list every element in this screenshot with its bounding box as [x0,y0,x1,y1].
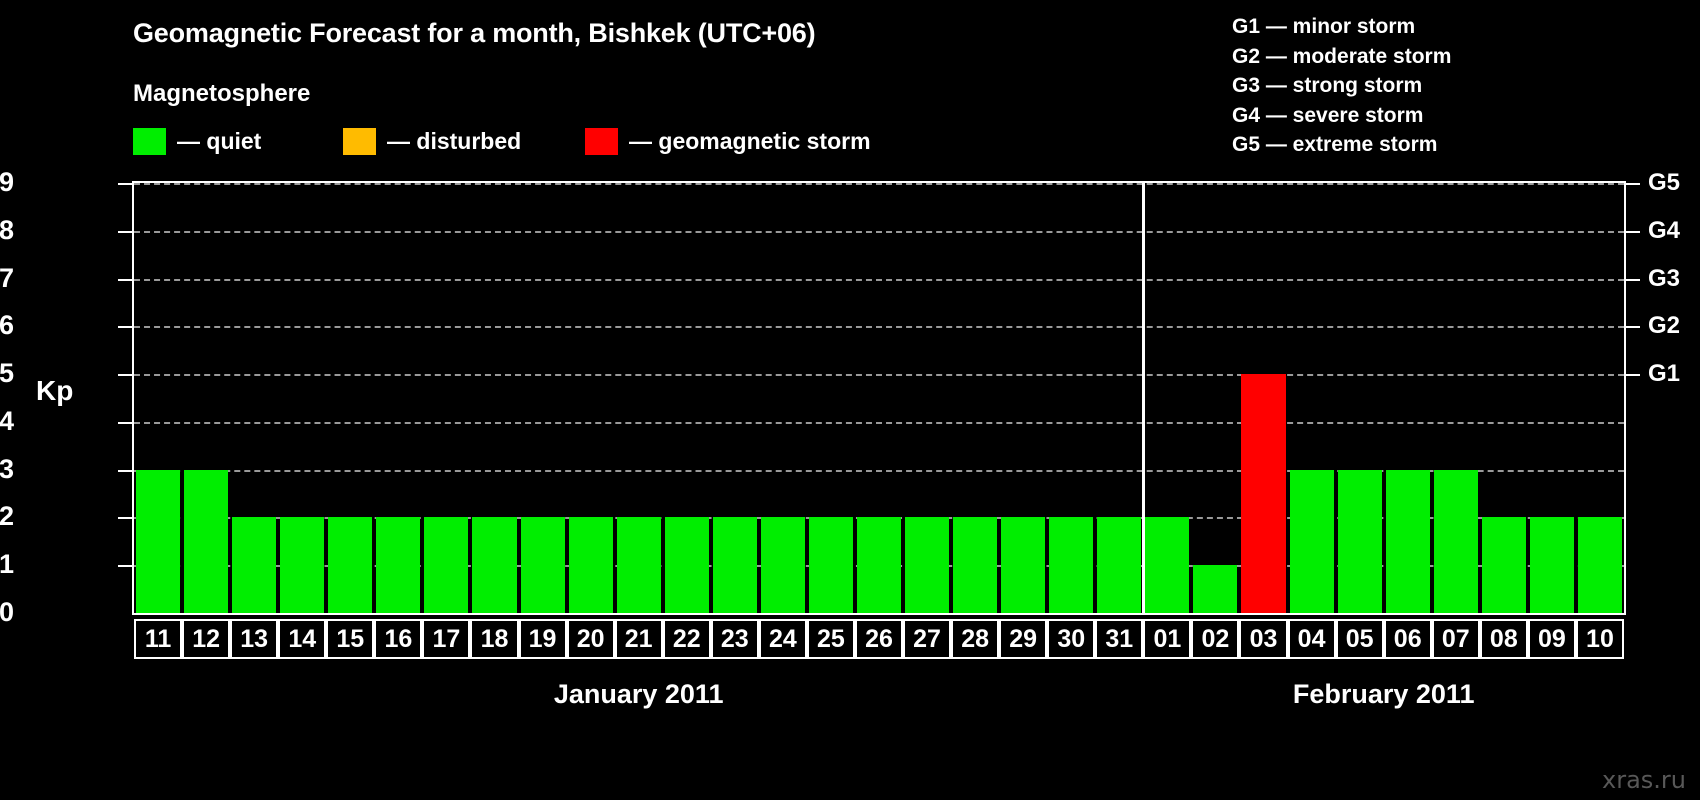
legend-entry-2: — geomagnetic storm [585,126,871,156]
bar-day-06[interactable] [1386,470,1430,613]
bar-day-12[interactable] [184,470,228,613]
legend-swatch-icon [133,128,166,155]
plot-inner [134,183,1624,613]
day-label-11[interactable]: 11 [134,619,182,659]
day-label-01[interactable]: 01 [1143,619,1191,659]
legend-entry-label: — disturbed [387,128,521,155]
plot-area [132,181,1626,615]
bar-day-27[interactable] [905,517,949,613]
day-label-29[interactable]: 29 [999,619,1047,659]
bar-day-03[interactable] [1241,374,1285,613]
g-tick-label-G3: G3 [1648,267,1680,291]
g-tick-label-G4: G4 [1648,219,1680,243]
day-label-row: 1112131415161718192021222324252627282930… [134,619,1624,659]
legend-swatch-icon [585,128,618,155]
day-label-16[interactable]: 16 [374,619,422,659]
month-caption-1: February 2011 [1143,679,1624,710]
day-label-06[interactable]: 06 [1384,619,1432,659]
y-tick-mark-2 [118,517,132,519]
g-tick-mark-G1 [1626,374,1640,376]
storm-scale-line-2: G2 — moderate storm [1232,42,1652,72]
y-tick-label-5: 5 [0,360,14,387]
bar-day-15[interactable] [328,517,372,613]
bar-day-16[interactable] [376,517,420,613]
day-label-28[interactable]: 28 [951,619,999,659]
legend-entry-1: — disturbed [343,126,521,156]
day-label-05[interactable]: 05 [1336,619,1384,659]
bar-day-05[interactable] [1338,470,1382,613]
day-label-21[interactable]: 21 [615,619,663,659]
bar-day-28[interactable] [953,517,997,613]
month-separator-line [1142,181,1145,615]
day-label-14[interactable]: 14 [278,619,326,659]
bar-day-24[interactable] [761,517,805,613]
y-axis-title: Kp [36,375,73,407]
day-label-19[interactable]: 19 [519,619,567,659]
legend-entry-label: — quiet [177,128,261,155]
bar-day-18[interactable] [472,517,516,613]
day-label-18[interactable]: 18 [470,619,518,659]
g-tick-label-G5: G5 [1648,171,1680,195]
day-label-02[interactable]: 02 [1191,619,1239,659]
y-tick-mark-4 [118,422,132,424]
bar-day-11[interactable] [136,470,180,613]
bar-day-01[interactable] [1145,517,1189,613]
bar-day-26[interactable] [857,517,901,613]
g-tick-label-G2: G2 [1648,314,1680,338]
day-label-12[interactable]: 12 [182,619,230,659]
day-label-15[interactable]: 15 [326,619,374,659]
day-label-20[interactable]: 20 [567,619,615,659]
bar-day-14[interactable] [280,517,324,613]
bar-day-08[interactable] [1482,517,1526,613]
storm-scale-line-1: G1 — minor storm [1232,12,1652,42]
legend-swatch-icon [343,128,376,155]
y-tick-label-7: 7 [0,265,14,292]
legend-entry-0: — quiet [133,126,261,156]
bar-day-02[interactable] [1193,565,1237,613]
storm-scale-line-5: G5 — extreme storm [1232,130,1652,160]
legend-entry-label: — geomagnetic storm [629,128,871,155]
y-tick-label-8: 8 [0,217,14,244]
y-tick-label-1: 1 [0,551,14,578]
bar-day-31[interactable] [1097,517,1141,613]
y-tick-label-0: 0 [0,599,14,626]
bar-day-29[interactable] [1001,517,1045,613]
bar-day-25[interactable] [809,517,853,613]
y-tick-mark-5 [118,374,132,376]
day-label-17[interactable]: 17 [422,619,470,659]
day-label-10[interactable]: 10 [1576,619,1624,659]
y-tick-mark-9 [118,183,132,185]
y-tick-label-9: 9 [0,169,14,196]
g-tick-mark-G4 [1626,231,1640,233]
day-label-13[interactable]: 13 [230,619,278,659]
bar-day-09[interactable] [1530,517,1574,613]
bar-day-13[interactable] [232,517,276,613]
bar-day-17[interactable] [424,517,468,613]
y-tick-mark-8 [118,231,132,233]
g-tick-label-G1: G1 [1648,362,1680,386]
day-label-04[interactable]: 04 [1288,619,1336,659]
y-tick-label-6: 6 [0,312,14,339]
bar-day-04[interactable] [1290,470,1334,613]
day-label-23[interactable]: 23 [711,619,759,659]
day-label-22[interactable]: 22 [663,619,711,659]
day-label-08[interactable]: 08 [1480,619,1528,659]
bar-day-21[interactable] [617,517,661,613]
storm-scale-legend: G1 — minor stormG2 — moderate stormG3 — … [1232,12,1652,160]
y-tick-mark-7 [118,279,132,281]
y-tick-label-3: 3 [0,456,14,483]
bars-layer [134,183,1624,613]
y-tick-mark-1 [118,565,132,567]
watermark: xras.ru [1602,766,1686,794]
bar-day-20[interactable] [569,517,613,613]
day-label-09[interactable]: 09 [1528,619,1576,659]
legend-heading: Magnetosphere [133,80,310,108]
bar-day-19[interactable] [521,517,565,613]
page-title: Geomagnetic Forecast for a month, Bishke… [133,18,815,49]
y-tick-label-4: 4 [0,408,14,435]
day-label-30[interactable]: 30 [1047,619,1095,659]
bar-day-30[interactable] [1049,517,1093,613]
g-tick-mark-G5 [1626,183,1640,185]
y-tick-mark-3 [118,470,132,472]
day-label-03[interactable]: 03 [1239,619,1287,659]
y-tick-mark-6 [118,326,132,328]
day-label-26[interactable]: 26 [855,619,903,659]
bar-day-07[interactable] [1434,470,1478,613]
month-caption-0: January 2011 [134,679,1143,710]
g-tick-mark-G3 [1626,279,1640,281]
g-tick-mark-G2 [1626,326,1640,328]
y-tick-label-2: 2 [0,503,14,530]
day-label-31[interactable]: 31 [1095,619,1143,659]
day-label-24[interactable]: 24 [759,619,807,659]
storm-scale-line-4: G4 — severe storm [1232,101,1652,131]
day-label-25[interactable]: 25 [807,619,855,659]
day-label-27[interactable]: 27 [903,619,951,659]
bar-day-22[interactable] [665,517,709,613]
storm-scale-line-3: G3 — strong storm [1232,71,1652,101]
bar-day-23[interactable] [713,517,757,613]
day-label-07[interactable]: 07 [1432,619,1480,659]
bar-day-10[interactable] [1578,517,1622,613]
